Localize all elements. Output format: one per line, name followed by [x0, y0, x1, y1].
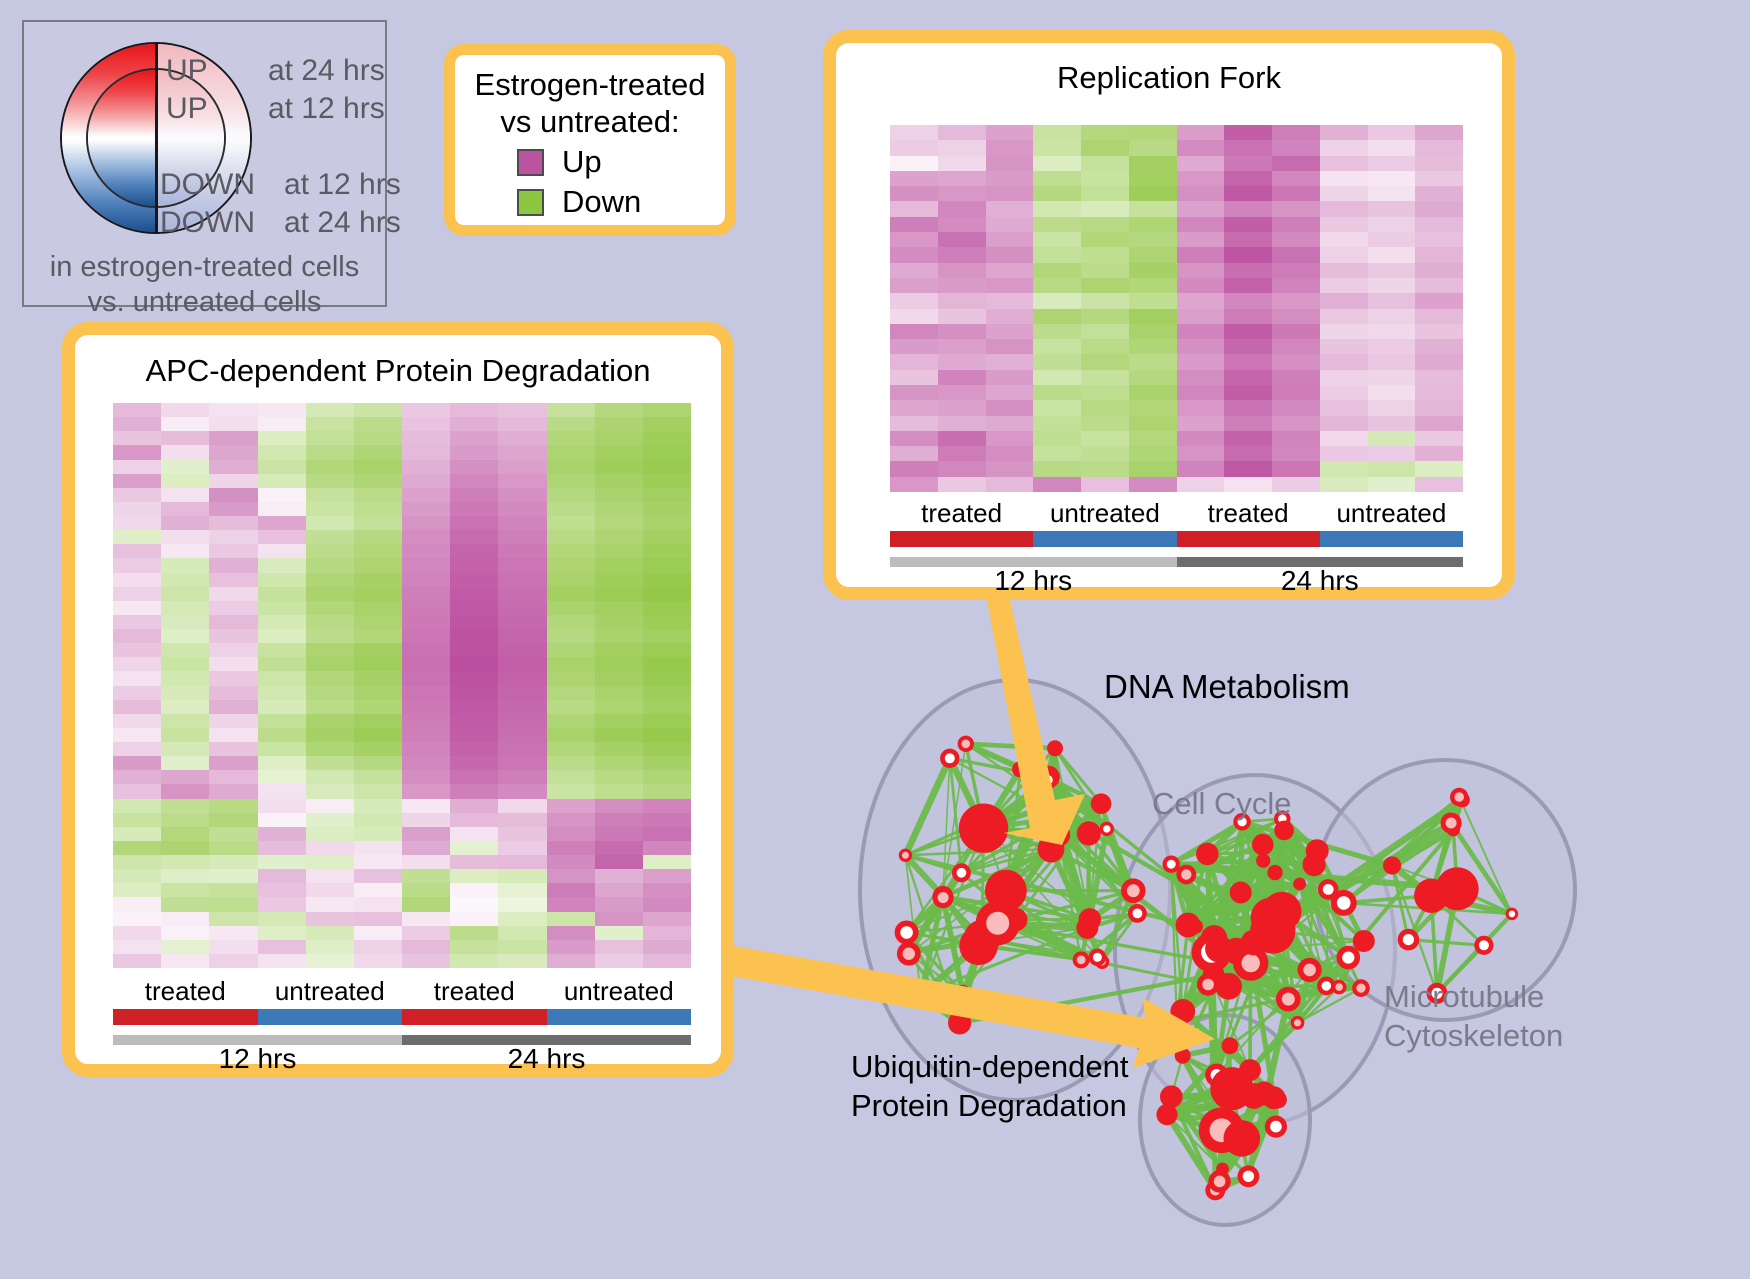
wheel-label-up-12: UP — [166, 92, 208, 126]
heatmap-cell — [986, 293, 1034, 308]
network-node — [1506, 908, 1519, 921]
heatmap-cell — [890, 171, 938, 186]
heatmap-cell — [354, 615, 402, 629]
heatmap-cell — [1224, 293, 1272, 308]
heatmap-cell — [450, 657, 498, 671]
heatmap-cell — [547, 799, 595, 813]
heatmap-cell — [161, 897, 209, 911]
heatmap-cell — [1368, 156, 1416, 171]
heatmap-cell — [938, 156, 986, 171]
condition-label: untreated — [1033, 498, 1176, 529]
network-node — [1073, 951, 1090, 968]
heatmap-cell — [354, 700, 402, 714]
heatmap-cell — [1081, 156, 1129, 171]
heatmap-cell — [450, 587, 498, 601]
heatmap-cell — [354, 714, 402, 728]
heatmap-cell — [209, 431, 257, 445]
network-node — [1038, 771, 1057, 790]
heatmap-cell — [1129, 339, 1177, 354]
network-node — [948, 1011, 971, 1034]
heatmap-cell — [986, 354, 1034, 369]
heatmap-cell — [643, 671, 691, 685]
heatmap-cell — [113, 784, 161, 798]
network-node — [897, 942, 921, 966]
heatmap-cell — [258, 516, 306, 530]
heatmap-cell — [1129, 309, 1177, 324]
heatmap-cell — [354, 544, 402, 558]
network-node — [1337, 946, 1361, 970]
heatmap-cell — [986, 263, 1034, 278]
heatmap-cell — [306, 530, 354, 544]
heatmap-cell — [209, 629, 257, 643]
heatmap-cell — [258, 445, 306, 459]
heatmap-cell — [498, 841, 546, 855]
heatmap-cell — [1320, 385, 1368, 400]
heatmap-cell — [354, 728, 402, 742]
heatmap-cell — [1033, 201, 1081, 216]
heatmap-cell — [498, 742, 546, 756]
heatmap-cell — [498, 615, 546, 629]
heatmap-cell — [938, 201, 986, 216]
heatmap-cell — [498, 940, 546, 954]
heatmap-cell — [402, 431, 450, 445]
heatmap-cell — [402, 671, 450, 685]
color-wheel-legend: UP at 24 hrs UP at 12 hrs DOWN at 12 hrs… — [22, 20, 387, 307]
heatmap-cell — [258, 657, 306, 671]
heatmap-cell — [161, 657, 209, 671]
network-node — [910, 983, 932, 1005]
heatmap-cell — [1272, 370, 1320, 385]
heatmap-cell — [1081, 431, 1129, 446]
heatmap-cell — [209, 827, 257, 841]
gene-network-diagram — [790, 620, 1750, 1279]
heatmap-cell — [402, 403, 450, 417]
heatmap-cell — [938, 477, 986, 492]
heatmap-cell — [258, 756, 306, 770]
wheel-label-down-12: DOWN — [160, 168, 255, 202]
heatmap-cell — [161, 516, 209, 530]
heatmap-cell — [1177, 171, 1225, 186]
network-node — [940, 749, 959, 768]
heatmap-cell — [113, 841, 161, 855]
heatmap-cell — [986, 446, 1034, 461]
heatmap-cell — [354, 502, 402, 516]
heatmap-cell — [209, 756, 257, 770]
heatmap-cell — [1272, 385, 1320, 400]
heatmap-cell — [498, 488, 546, 502]
heatmap-cell — [1415, 324, 1463, 339]
timepoint-label: 12 hrs — [890, 565, 1177, 597]
heatmap-cell — [1368, 171, 1416, 186]
heatmap-cell — [595, 714, 643, 728]
heatmap-cell — [986, 156, 1034, 171]
heatmap-cell — [1320, 354, 1368, 369]
network-node — [1175, 1048, 1191, 1064]
heatmap-cell — [595, 445, 643, 459]
heatmap-cell — [498, 643, 546, 657]
heatmap-cell — [1415, 400, 1463, 415]
heatmap-cell — [1320, 309, 1368, 324]
heatmap-cell — [547, 431, 595, 445]
heatmap-cell — [1368, 278, 1416, 293]
heatmap-cell — [1272, 339, 1320, 354]
heatmap-cell — [402, 813, 450, 827]
heatmap-cell — [1415, 201, 1463, 216]
heatmap-cell — [1320, 232, 1368, 247]
heatmap-cell — [1129, 400, 1177, 415]
heatmap-cell — [595, 926, 643, 940]
heatmap-cell — [1081, 416, 1129, 431]
heatmap-cell — [209, 558, 257, 572]
network-node — [1353, 930, 1375, 952]
network-node — [1291, 1016, 1305, 1030]
network-node — [1298, 958, 1322, 982]
heatmap-cell — [1415, 431, 1463, 446]
heatmap-cell — [354, 488, 402, 502]
heatmap-cell — [938, 232, 986, 247]
heatmap-cell — [402, 601, 450, 615]
up-swatch-icon — [517, 149, 544, 176]
heatmap-cell — [498, 912, 546, 926]
heatmap-cell — [113, 940, 161, 954]
heatmap-cell — [450, 558, 498, 572]
heatmap-cell — [306, 417, 354, 431]
heatmap-cell — [498, 573, 546, 587]
heatmap-cell — [209, 601, 257, 615]
heatmap-cell — [209, 671, 257, 685]
heatmap-cell — [258, 474, 306, 488]
heatmap-cell — [498, 728, 546, 742]
network-node — [1398, 929, 1420, 951]
heatmap-cell — [161, 403, 209, 417]
heatmap-cell — [209, 728, 257, 742]
heatmap-cell — [595, 629, 643, 643]
heatmap-cell — [354, 940, 402, 954]
network-node — [1176, 913, 1201, 938]
heatmap-cell — [1081, 309, 1129, 324]
heatmap-cell — [1177, 461, 1225, 476]
heatmap-cell — [498, 700, 546, 714]
heatmap-cell — [306, 742, 354, 756]
heatmap-cell — [1129, 171, 1177, 186]
heatmap-cell — [547, 756, 595, 770]
heatmap-cell — [498, 813, 546, 827]
heatmap-cell — [1272, 461, 1320, 476]
heatmap-cell — [938, 431, 986, 446]
heatmap-cell — [258, 615, 306, 629]
heatmap-cell — [306, 615, 354, 629]
heatmap-cell — [547, 573, 595, 587]
heatmap-cell — [258, 643, 306, 657]
heatmap-cell — [402, 474, 450, 488]
heatmap-cell — [547, 728, 595, 742]
heatmap-cell — [402, 926, 450, 940]
network-node — [976, 901, 1020, 945]
heatmap-cell — [595, 502, 643, 516]
heatmap-cell — [643, 431, 691, 445]
heatmap-cell — [547, 445, 595, 459]
network-node — [1262, 1086, 1285, 1109]
heatmap-cell — [643, 756, 691, 770]
heatmap-cell — [209, 615, 257, 629]
heatmap-cell — [643, 643, 691, 657]
network-node — [1079, 908, 1101, 930]
network-node — [899, 849, 912, 862]
heatmap-cell — [1415, 416, 1463, 431]
heatmap-cell — [1368, 186, 1416, 201]
heatmap-cell — [1415, 217, 1463, 232]
heatmap-cell — [1177, 324, 1225, 339]
heatmap-cell — [938, 247, 986, 262]
heatmap-cell — [209, 799, 257, 813]
heatmap-cell — [890, 140, 938, 155]
heatmap-cell — [354, 855, 402, 869]
heatmap-cell — [1224, 201, 1272, 216]
heatmap-cell — [1129, 461, 1177, 476]
mt-line1: Microtubule — [1384, 978, 1563, 1017]
heatmap-cell — [113, 686, 161, 700]
heatmap-cell — [209, 940, 257, 954]
heatmap-cell — [595, 855, 643, 869]
heatmap-cell — [890, 370, 938, 385]
heatmap-cell — [643, 770, 691, 784]
wheel-time-up-12: at 12 hrs — [268, 92, 385, 126]
heatmap-cell — [938, 263, 986, 278]
heatmap-cell — [450, 671, 498, 685]
heatmap-cell — [595, 912, 643, 926]
heatmap-cell — [258, 897, 306, 911]
heatmap-cell — [161, 784, 209, 798]
heatmap-cell — [1415, 125, 1463, 140]
heatmap-cell — [643, 657, 691, 671]
heatmap-cell — [547, 488, 595, 502]
heatmap-cell — [498, 869, 546, 883]
network-node — [895, 921, 919, 945]
heatmap-cell — [1081, 324, 1129, 339]
heatmap-cell — [498, 530, 546, 544]
heatmap-cell — [161, 671, 209, 685]
heatmap-cell — [258, 530, 306, 544]
heatmap-cell — [306, 671, 354, 685]
heatmap-cell — [1415, 171, 1463, 186]
heatmap-cell — [402, 530, 450, 544]
network-node — [1252, 834, 1274, 856]
heatmap-cell — [986, 324, 1034, 339]
heatmap-cell — [113, 926, 161, 940]
heatmap-cell — [1224, 171, 1272, 186]
heatmap-cell — [595, 558, 643, 572]
heatmap-cell — [1368, 385, 1416, 400]
heatmap-cell — [209, 573, 257, 587]
heatmap-cell — [547, 784, 595, 798]
heatmap-cell — [354, 558, 402, 572]
heatmap-cell — [161, 869, 209, 883]
heatmap-cell — [1033, 232, 1081, 247]
heatmap-cell — [1272, 125, 1320, 140]
heatmap-cell — [595, 573, 643, 587]
heatmap-cell — [1320, 431, 1368, 446]
heatmap-cell — [306, 855, 354, 869]
heatmap-cell — [1224, 477, 1272, 492]
heatmap-cell — [161, 813, 209, 827]
heatmap-cell — [1224, 278, 1272, 293]
heatmap-cell — [1033, 293, 1081, 308]
legend-row-up: Up — [455, 144, 725, 180]
heatmap-cell — [938, 278, 986, 293]
heatmap-cell — [547, 516, 595, 530]
heatmap-cell — [986, 400, 1034, 415]
heatmap-cell — [306, 841, 354, 855]
heatmap-cell — [1224, 400, 1272, 415]
heatmap-cell — [1272, 416, 1320, 431]
heatmap-cell — [354, 671, 402, 685]
condition-color-bar — [890, 531, 1033, 547]
heatmap-cell — [1129, 232, 1177, 247]
heatmap-cell — [643, 403, 691, 417]
heatmap-cell — [450, 686, 498, 700]
network-node — [1224, 1120, 1261, 1157]
heatmap-cell — [209, 502, 257, 516]
heatmap-cell — [1272, 477, 1320, 492]
heatmap-cell — [161, 544, 209, 558]
heatmap-cell — [643, 445, 691, 459]
heatmap-cell — [450, 799, 498, 813]
heatmap-cell — [258, 954, 306, 968]
heatmap-cell — [986, 186, 1034, 201]
heatmap-cell — [209, 869, 257, 883]
heatmap-cell — [258, 728, 306, 742]
heatmap-cell — [1033, 354, 1081, 369]
condition-label: untreated — [1320, 498, 1463, 529]
legend-title-line1: Estrogen-treated — [455, 66, 725, 103]
heatmap-cell — [547, 883, 595, 897]
heatmap-cell — [450, 460, 498, 474]
heatmap-cell — [209, 460, 257, 474]
heatmap-cell — [306, 940, 354, 954]
heatmap-cell — [890, 324, 938, 339]
apc-condition-labels: treateduntreatedtreateduntreated — [113, 976, 691, 1007]
heatmap-cell — [498, 657, 546, 671]
heatmap-cell — [595, 700, 643, 714]
replication-fork-condition-labels: treateduntreatedtreateduntreated — [890, 498, 1463, 529]
heatmap-cell — [890, 354, 938, 369]
network-node — [1293, 878, 1306, 891]
heatmap-cell — [402, 516, 450, 530]
heatmap-cell — [161, 855, 209, 869]
heatmap-cell — [1129, 186, 1177, 201]
heatmap-cell — [1415, 247, 1463, 262]
heatmap-cell — [1320, 461, 1368, 476]
network-node — [1441, 812, 1462, 833]
heatmap-cell — [1177, 293, 1225, 308]
condition-label: treated — [402, 976, 547, 1007]
heatmap-cell — [258, 686, 306, 700]
heatmap-cell — [498, 516, 546, 530]
heatmap-cell — [595, 728, 643, 742]
heatmap-cell — [595, 827, 643, 841]
heatmap-cell — [547, 841, 595, 855]
heatmap-cell — [209, 587, 257, 601]
heatmap-cell — [547, 940, 595, 954]
heatmap-cell — [547, 629, 595, 643]
heatmap-cell — [161, 502, 209, 516]
heatmap-cell — [402, 488, 450, 502]
network-node — [1331, 890, 1357, 916]
heatmap-cell — [161, 756, 209, 770]
heatmap-cell — [402, 770, 450, 784]
heatmap-cell — [402, 799, 450, 813]
heatmap-cell — [890, 446, 938, 461]
heatmap-cell — [498, 954, 546, 968]
heatmap-cell — [1368, 247, 1416, 262]
heatmap-cell — [258, 912, 306, 926]
heatmap-cell — [306, 926, 354, 940]
heatmap-cell — [890, 461, 938, 476]
heatmap-cell — [209, 700, 257, 714]
heatmap-cell — [161, 629, 209, 643]
heatmap-cell — [402, 643, 450, 657]
heatmap-cell — [258, 883, 306, 897]
heatmap-cell — [498, 601, 546, 615]
heatmap-cell — [113, 587, 161, 601]
heatmap-cell — [1177, 247, 1225, 262]
heatmap-cell — [113, 516, 161, 530]
heatmap-cell — [1368, 263, 1416, 278]
heatmap-cell — [209, 813, 257, 827]
heatmap-cell — [1415, 278, 1463, 293]
heatmap-cell — [986, 339, 1034, 354]
heatmap-cell — [498, 445, 546, 459]
heatmap-cell — [547, 827, 595, 841]
heatmap-cell — [161, 558, 209, 572]
heatmap-cell — [1368, 446, 1416, 461]
heatmap-cell — [1368, 461, 1416, 476]
heatmap-cell — [1129, 431, 1177, 446]
heatmap-cell — [1177, 431, 1225, 446]
heatmap-cell — [1129, 324, 1177, 339]
heatmap-cell — [306, 784, 354, 798]
heatmap-cell — [938, 446, 986, 461]
heatmap-cell — [498, 686, 546, 700]
heatmap-cell — [938, 171, 986, 186]
heatmap-cell — [595, 799, 643, 813]
heatmap-cell — [547, 700, 595, 714]
heatmap-cell — [113, 643, 161, 657]
heatmap-cell — [1129, 217, 1177, 232]
heatmap-cell — [547, 530, 595, 544]
heatmap-cell — [258, 742, 306, 756]
heatmap-cell — [354, 403, 402, 417]
heatmap-cell — [1272, 293, 1320, 308]
heatmap-cell — [1272, 217, 1320, 232]
heatmap-cell — [450, 728, 498, 742]
heatmap-cell — [595, 601, 643, 615]
heatmap-cell — [498, 671, 546, 685]
heatmap-cell — [1033, 431, 1081, 446]
heatmap-cell — [547, 601, 595, 615]
heatmap-cell — [1320, 416, 1368, 431]
heatmap-cell — [113, 502, 161, 516]
heatmap-cell — [1081, 446, 1129, 461]
heatmap-cell — [1415, 309, 1463, 324]
heatmap-cell — [1177, 385, 1225, 400]
heatmap-cell — [986, 416, 1034, 431]
heatmap-cell — [1129, 201, 1177, 216]
heatmap-cell — [306, 474, 354, 488]
heatmap-cell — [209, 954, 257, 968]
heatmap-cell — [1415, 339, 1463, 354]
heatmap-cell — [209, 883, 257, 897]
